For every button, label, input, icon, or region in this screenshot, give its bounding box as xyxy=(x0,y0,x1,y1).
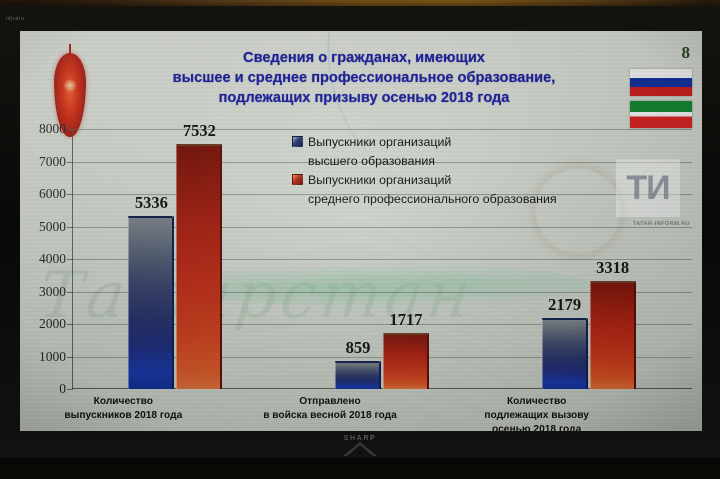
title-line-3: подлежащих призыву осенью 2018 года xyxy=(104,89,624,109)
tv-brand-logo: SHARP xyxy=(0,435,720,442)
bar[interactable] xyxy=(590,281,636,389)
x-axis-category-label: Количествовыпускников 2018 года xyxy=(20,395,227,423)
bar[interactable] xyxy=(383,333,429,389)
x-axis-category-label: Отправленов войска весной 2018 года xyxy=(227,395,434,423)
category-label-line: Отправлено xyxy=(227,395,434,409)
y-axis-tick-mark xyxy=(67,194,73,195)
y-axis-tick-mark xyxy=(67,324,73,325)
legend-label-1-line-2: высшего образования xyxy=(308,152,642,170)
y-axis-tick-mark xyxy=(67,259,73,260)
y-axis-tick-mark xyxy=(67,292,73,293)
tv-stand-chevron-icon xyxy=(343,442,377,456)
television-display: idjvaru Татарстан Сведения о гражданах, … xyxy=(0,6,720,458)
category-label-line: осенью 2018 года xyxy=(433,423,640,431)
category-label-line: подлежащих вызову xyxy=(433,409,640,423)
bar[interactable] xyxy=(128,216,174,389)
y-axis-tick-label: 5000 xyxy=(20,219,66,235)
y-axis-tick-label: 2000 xyxy=(20,316,66,332)
russia-flag-icon xyxy=(630,69,692,96)
bar-value-label: 2179 xyxy=(548,295,581,315)
bar[interactable] xyxy=(542,318,588,389)
y-axis-tick-label: 1000 xyxy=(20,349,66,365)
y-axis-tick-mark xyxy=(67,129,73,130)
legend-label-2-line-2: среднего профессионального образования xyxy=(308,190,642,208)
y-axis: 010002000300040005000600070008000 xyxy=(20,129,72,389)
bar-value-label: 5336 xyxy=(135,193,168,213)
category-label-line: выпускников 2018 года xyxy=(20,409,227,423)
bar-value-label: 1717 xyxy=(390,310,423,330)
tatarstan-flag-icon xyxy=(630,101,692,128)
legend-label-2-line-1: Выпускники организаций xyxy=(308,171,451,189)
bar-group: 53367532 xyxy=(128,129,222,389)
category-label-line: в войска весной 2018 года xyxy=(227,409,434,423)
bar[interactable] xyxy=(176,144,222,389)
bar-value-label: 7532 xyxy=(183,121,216,141)
bar-value-label: 859 xyxy=(346,338,371,358)
presentation-slide: Татарстан Сведения о гражданах, имеющих … xyxy=(20,31,702,431)
legend-item-higher-education: Выпускники организаций xyxy=(292,133,642,151)
title-line-2: высшее и среднее профессиональное образо… xyxy=(104,69,624,89)
y-axis-tick-mark xyxy=(67,162,73,163)
tatar-inform-watermark: ТИ xyxy=(616,159,680,217)
y-axis-tick-label: 4000 xyxy=(20,251,66,267)
y-axis-tick-label: 8000 xyxy=(20,121,66,137)
legend-label-1-line-1: Выпускники организаций xyxy=(308,133,451,151)
tatar-inform-logo-text: ТИ xyxy=(616,159,680,217)
x-axis-category-label: Количествоподлежащих вызовуосенью 2018 г… xyxy=(433,395,640,431)
bar[interactable] xyxy=(335,361,381,389)
slide-number: 8 xyxy=(682,43,691,63)
screen-corner-tag: idjvaru xyxy=(6,16,24,22)
y-axis-tick-label: 7000 xyxy=(20,154,66,170)
category-label-line: Количество xyxy=(20,395,227,409)
y-axis-tick-mark xyxy=(67,227,73,228)
legend-swatch-red-icon xyxy=(292,174,303,185)
tatar-inform-url: TATAR-INFORM.RU xyxy=(633,221,690,227)
legend-swatch-blue-icon xyxy=(292,136,303,147)
bar-value-label: 3318 xyxy=(596,258,629,278)
room-scene: idjvaru Татарстан Сведения о гражданах, … xyxy=(0,0,720,479)
y-axis-tick-mark xyxy=(67,357,73,358)
bar-chart: 010002000300040005000600070008000 533675… xyxy=(20,129,702,429)
title-line-1: Сведения о гражданах, имеющих xyxy=(104,49,624,69)
category-label-line: Количество xyxy=(433,395,640,409)
chart-legend: Выпускники организаций высшего образован… xyxy=(292,133,642,208)
y-axis-tick-label: 3000 xyxy=(20,284,66,300)
y-axis-tick-mark xyxy=(67,389,73,390)
flags-group xyxy=(630,69,692,133)
y-axis-tick-label: 6000 xyxy=(20,186,66,202)
legend-item-vocational-education: Выпускники организаций xyxy=(292,171,642,189)
page-title: Сведения о гражданах, имеющих высшее и с… xyxy=(104,49,624,109)
